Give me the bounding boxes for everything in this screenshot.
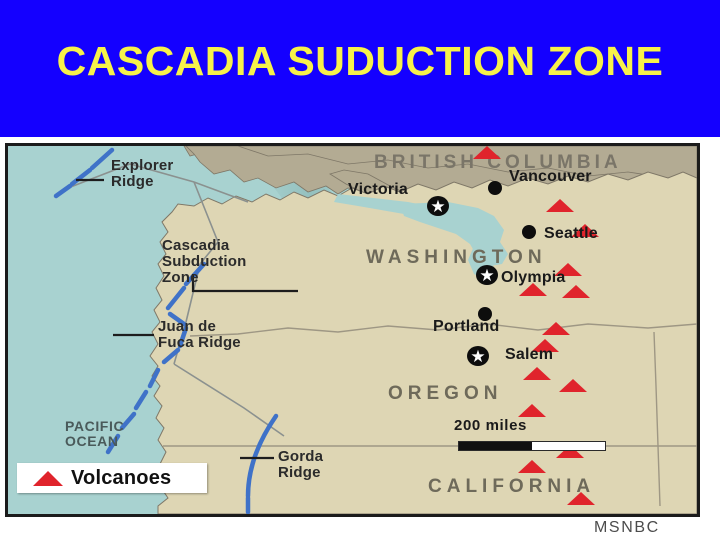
- title-banner: CASCADIA SUDUCTION ZONE: [0, 0, 720, 137]
- city-label-seattle: Seattle: [544, 226, 598, 243]
- legend-volcanoes: Volcanoes: [17, 463, 207, 493]
- volcano-marker: [562, 285, 590, 298]
- scale-bar: [458, 441, 606, 451]
- label-cascadia-subduction-zone: Cascadia Subduction Zone: [162, 238, 247, 285]
- volcano-marker: [523, 367, 551, 380]
- city-label-vancouver: Vancouver: [509, 169, 592, 186]
- volcano-marker: [518, 460, 546, 473]
- volcano-marker: [518, 404, 546, 417]
- map-geometry: [8, 146, 697, 514]
- volcano-marker: [542, 322, 570, 335]
- star-icon: ★: [479, 267, 494, 284]
- capital-marker-salem: ★: [467, 346, 489, 366]
- volcano-triangle-icon: [33, 471, 63, 486]
- label-oregon: OREGON: [388, 384, 502, 404]
- credit-msnbc: MSNBC: [594, 519, 660, 537]
- scale-bar-label: 200 miles: [454, 418, 527, 434]
- label-explorer-ridge: Explorer Ridge: [111, 158, 173, 190]
- legend-volcanoes-label: Volcanoes: [71, 467, 171, 490]
- map-canvas: Explorer Ridge Cascadia Subduction Zone …: [8, 146, 697, 514]
- volcano-marker: [546, 199, 574, 212]
- volcano-marker: [567, 492, 595, 505]
- label-pacific-ocean: PACIFIC OCEAN: [65, 419, 124, 448]
- capital-marker-victoria: ★: [427, 196, 449, 216]
- map-figure: Explorer Ridge Cascadia Subduction Zone …: [5, 143, 700, 517]
- volcano-marker: [559, 379, 587, 392]
- label-washington: WASHINGTON: [366, 248, 547, 268]
- city-label-salem: Salem: [505, 347, 553, 364]
- label-gorda-ridge: Gorda Ridge: [278, 449, 323, 481]
- city-dot-vancouver: [488, 181, 502, 195]
- page-title: CASCADIA SUDUCTION ZONE: [0, 36, 720, 86]
- label-juan-de-fuca-ridge: Juan de Fuca Ridge: [158, 319, 241, 351]
- slide-root: CASCADIA SUDUCTION ZONE: [0, 0, 720, 540]
- capital-marker-olympia: ★: [476, 265, 498, 285]
- city-label-portland: Portland: [433, 319, 500, 336]
- star-icon: ★: [470, 348, 485, 365]
- volcano-marker: [473, 146, 501, 159]
- city-label-victoria: Victoria: [348, 182, 408, 199]
- star-icon: ★: [430, 198, 445, 215]
- city-label-olympia: Olympia: [501, 270, 566, 287]
- city-dot-seattle: [522, 225, 536, 239]
- scale-bar-fill: [459, 442, 532, 450]
